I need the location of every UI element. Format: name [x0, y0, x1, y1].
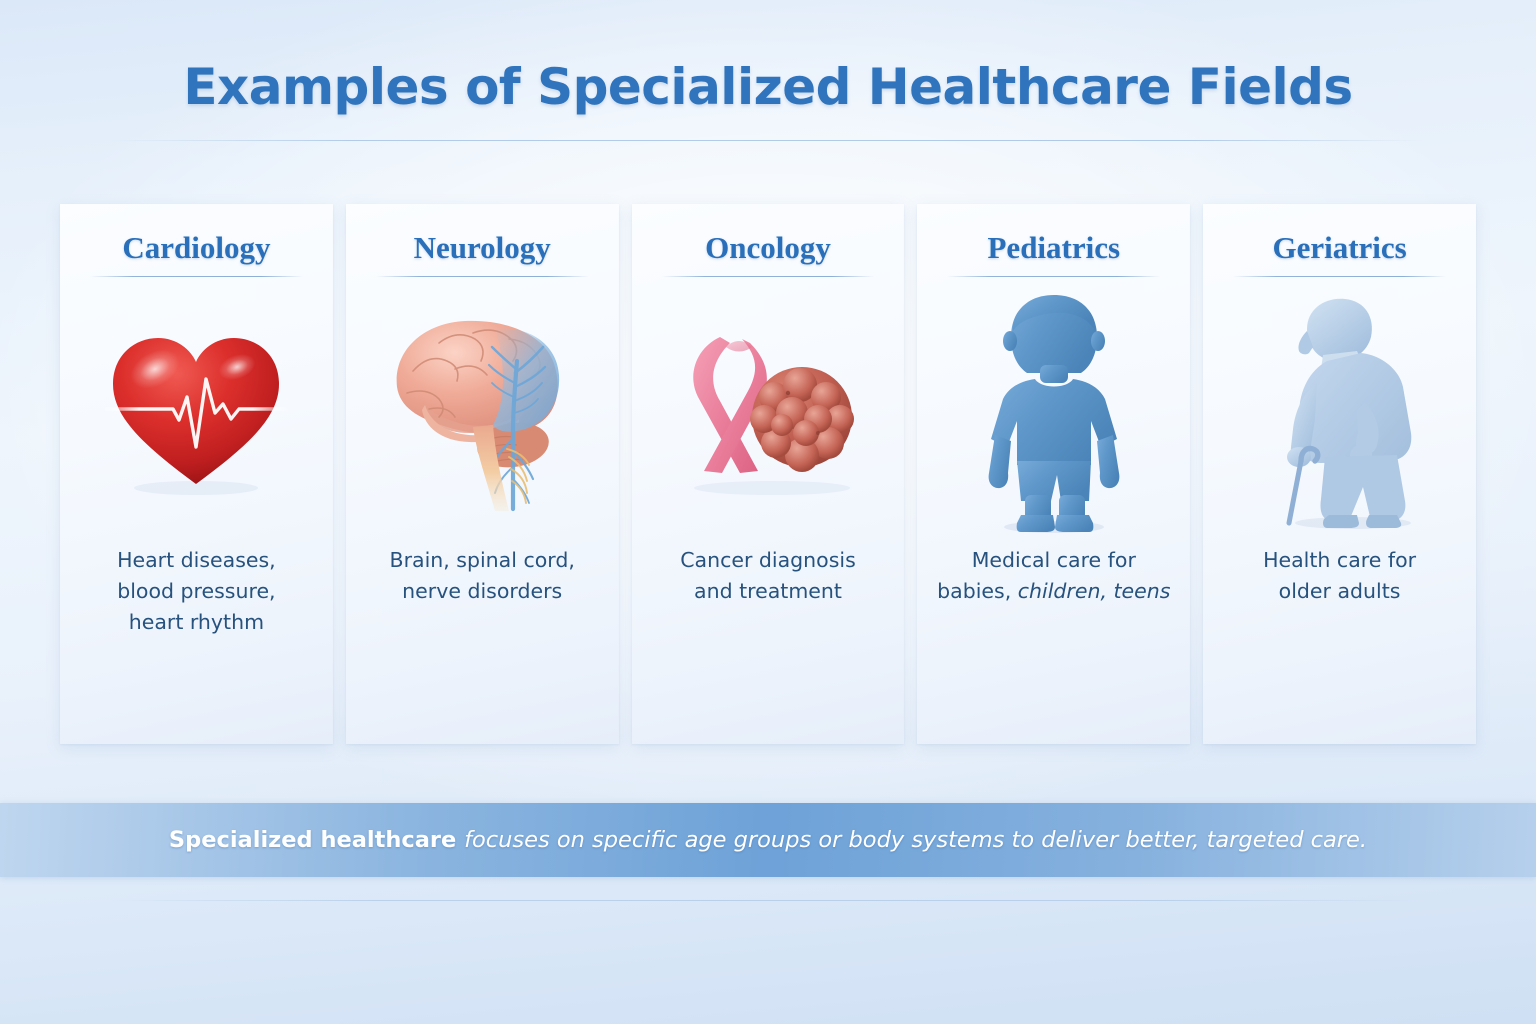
card-description: Health care for older adults: [1251, 545, 1428, 607]
footer-text: Specialized healthcare focuses on specif…: [169, 827, 1367, 853]
card-description-line: Brain, spinal cord,: [390, 545, 575, 576]
card-title: Geriatrics: [1272, 232, 1406, 263]
card-illustration: [632, 277, 905, 545]
card-description-line: blood pressure,: [117, 576, 276, 607]
card-description-line: older adults: [1263, 576, 1416, 607]
card-description-line: nerve disorders: [390, 576, 575, 607]
card-title: Pediatrics: [988, 232, 1121, 263]
card-description: Heart diseases, blood pressure, heart rh…: [105, 545, 288, 638]
specialty-card-pediatrics[interactable]: Pediatrics: [917, 204, 1190, 744]
card-description-line: babies, children, teens: [937, 576, 1170, 607]
card-description-line: Health care for: [1263, 545, 1416, 576]
card-description: Medical care for babies, children, teens: [925, 545, 1182, 607]
child-silhouette-illustration-icon: [973, 289, 1135, 534]
card-description-line: and treatment: [680, 576, 856, 607]
card-description-line: heart rhythm: [117, 607, 276, 638]
footer-lead: Specialized healthcare: [169, 827, 464, 853]
footer-divider: [112, 900, 1424, 901]
footer-banner: Specialized healthcare focuses on specif…: [0, 803, 1536, 877]
card-description-line: Heart diseases,: [117, 545, 276, 576]
specialty-card-row: Cardiology: [60, 204, 1476, 744]
footer-rest: focuses on specific age groups or body s…: [464, 827, 1367, 853]
card-illustration: [1203, 277, 1476, 545]
card-description: Brain, spinal cord, nerve disorders: [378, 545, 587, 607]
card-title: Cardiology: [122, 232, 270, 263]
card-description-line: Cancer diagnosis: [680, 545, 856, 576]
specialty-card-oncology[interactable]: Oncology: [632, 204, 905, 744]
title-divider: [112, 140, 1424, 141]
page-title: Examples of Specialized Healthcare Field…: [0, 58, 1536, 116]
brain-illustration-icon: [377, 309, 587, 514]
card-title: Oncology: [705, 232, 831, 263]
card-illustration: [60, 277, 333, 545]
card-illustration: [917, 277, 1190, 545]
card-description: Cancer diagnosis and treatment: [668, 545, 868, 607]
card-description-segment: babies,: [937, 579, 1018, 603]
specialty-card-geriatrics[interactable]: Geriatrics: [1203, 204, 1476, 744]
card-illustration: [346, 277, 619, 545]
card-description-line: Medical care for: [937, 545, 1170, 576]
specialty-card-neurology[interactable]: Neurology: [346, 204, 619, 744]
ribbon-tumor-cell-illustration-icon: [668, 321, 868, 501]
elderly-person-with-cane-illustration-icon: [1245, 291, 1435, 531]
card-title: Neurology: [414, 232, 551, 263]
heart-ecg-illustration-icon: [103, 321, 289, 501]
card-description-emphasis: children, teens: [1018, 579, 1171, 603]
specialty-card-cardiology[interactable]: Cardiology: [60, 204, 333, 744]
